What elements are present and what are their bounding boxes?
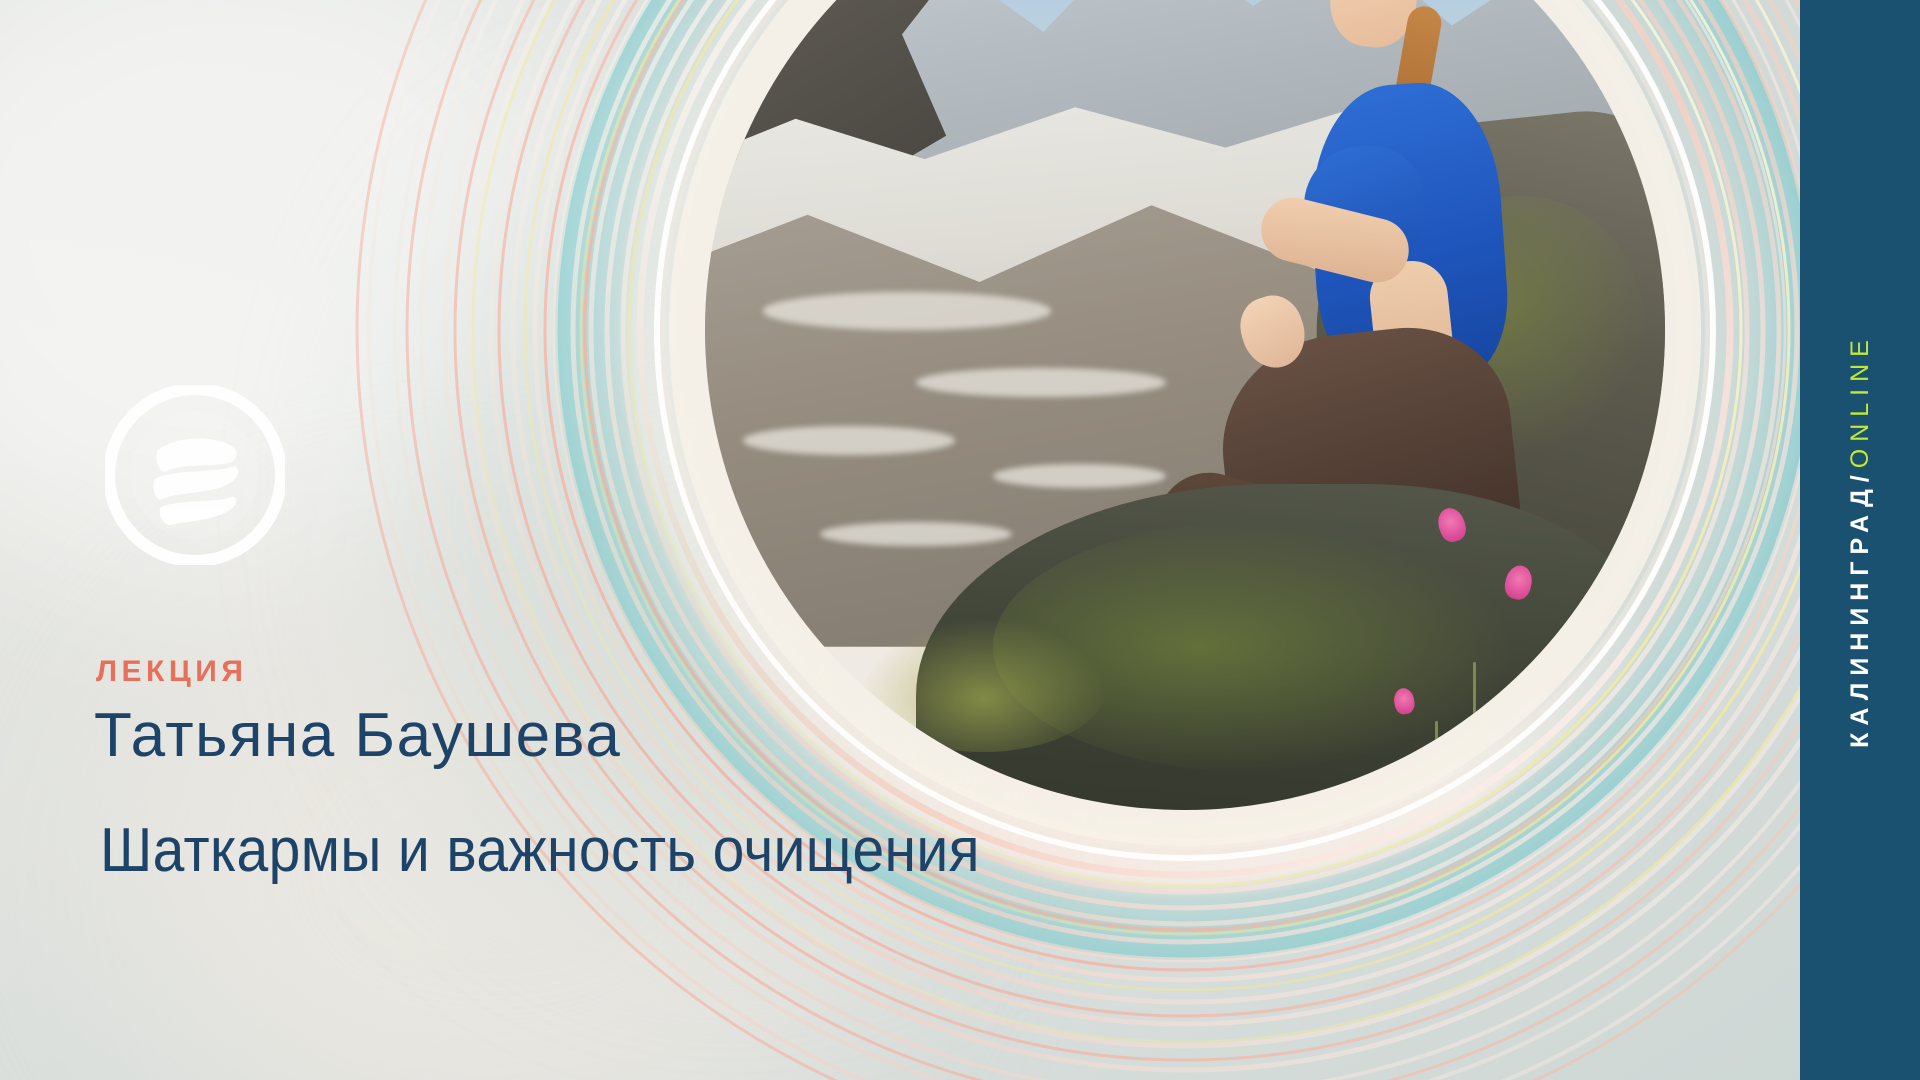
concentric-ring-lines bbox=[0, 0, 1920, 1080]
sidebar-online-label: ONLINE bbox=[1846, 333, 1874, 468]
sidebar-city-label: КАЛИНИНГРАД/ bbox=[1846, 468, 1874, 748]
speaker-name: Татьяна Баушева bbox=[94, 700, 621, 771]
globe-spiral-logo bbox=[105, 385, 285, 565]
sidebar-label: КАЛИНИНГРАД/ONLINE bbox=[1846, 333, 1875, 748]
poster-slide: ЛЕКЦИЯ Татьяна Баушева Шаткармы и важнос… bbox=[0, 0, 1920, 1080]
lecture-kicker: ЛЕКЦИЯ bbox=[96, 655, 247, 689]
lecture-title: Шаткармы и важность очищения bbox=[100, 815, 980, 886]
city-sidebar: КАЛИНИНГРАД/ONLINE bbox=[1800, 0, 1920, 1080]
